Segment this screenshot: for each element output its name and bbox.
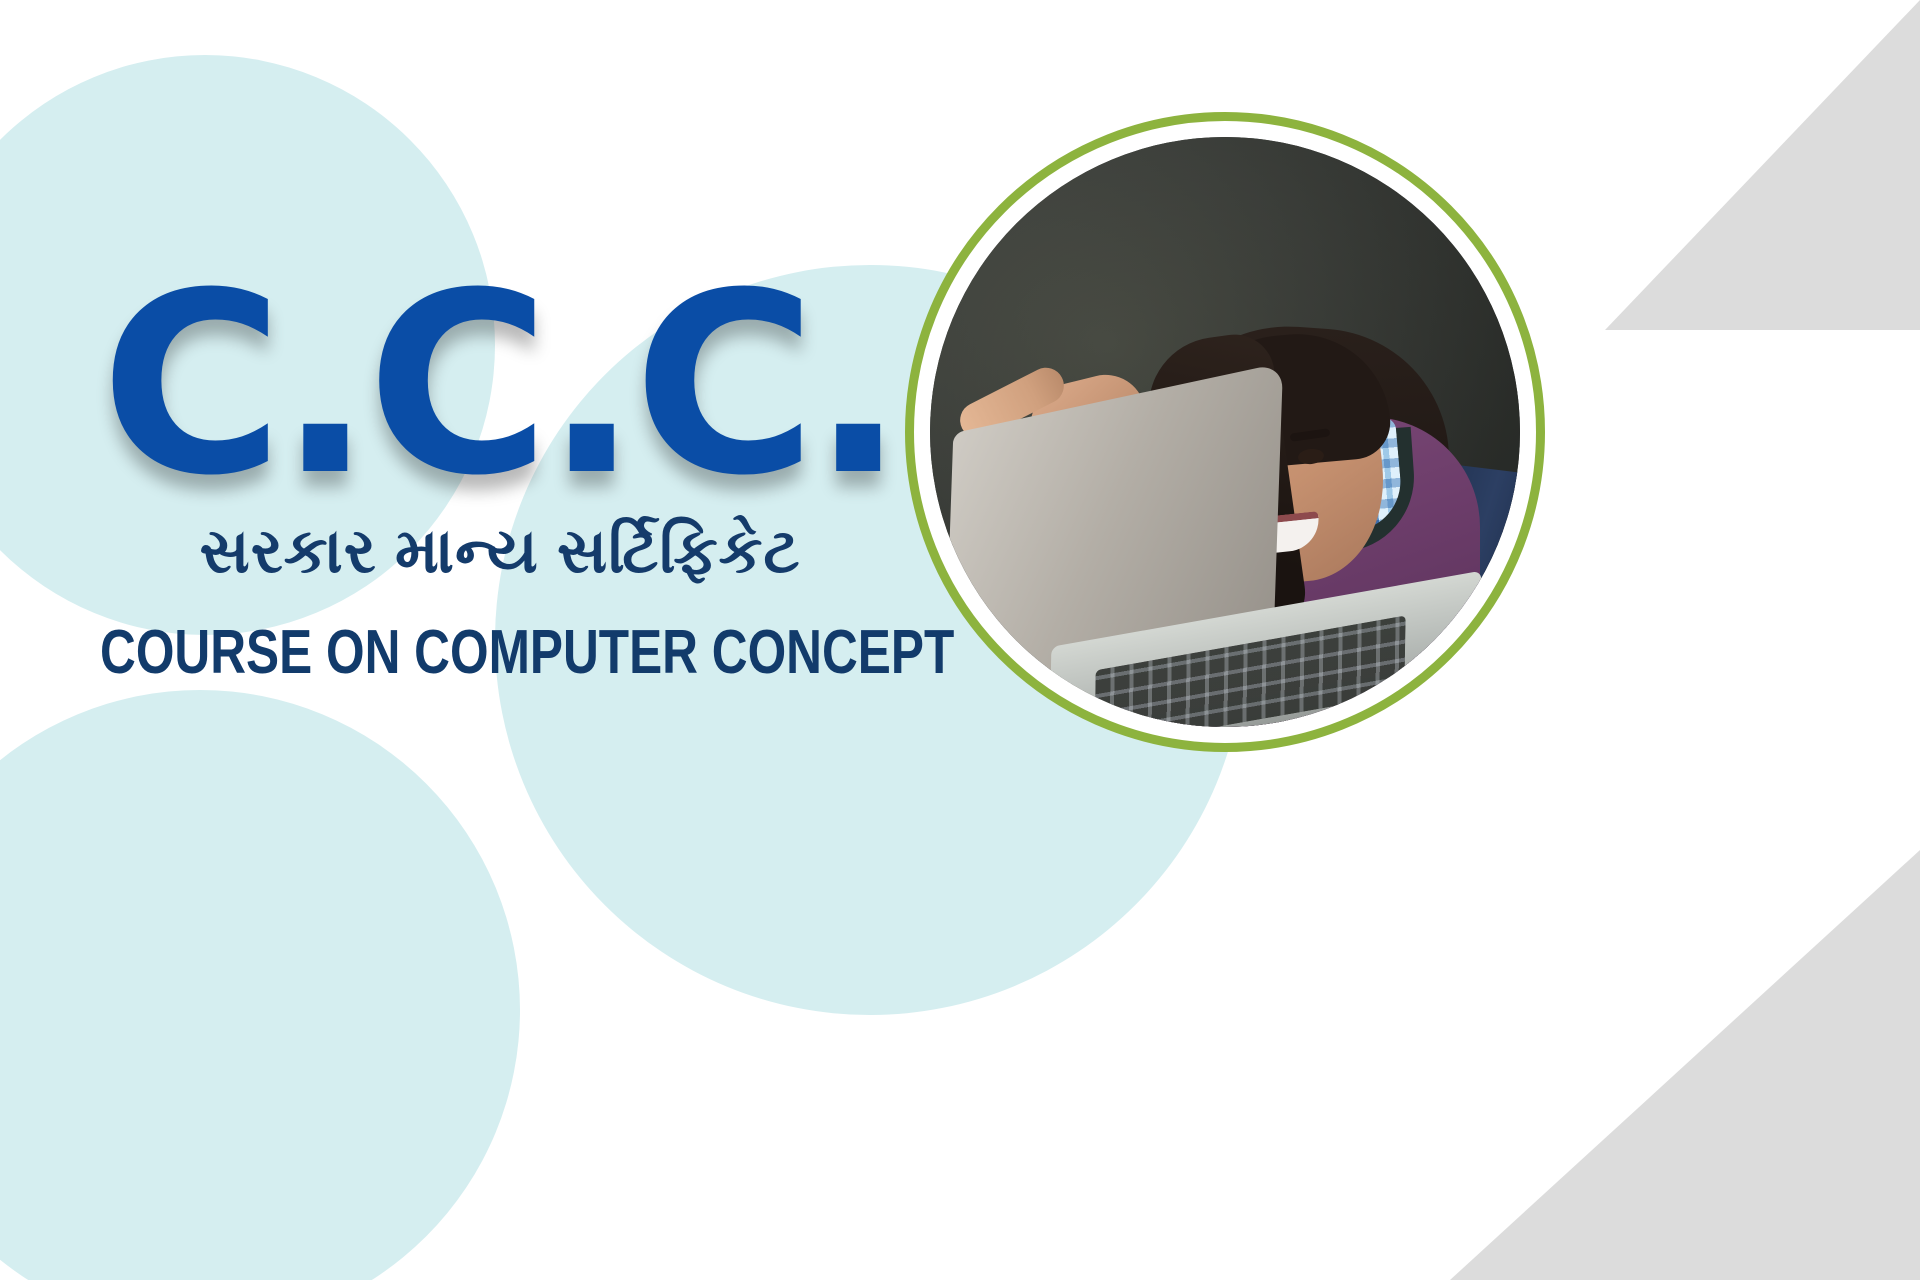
page-title: C.C.C. <box>0 270 1000 500</box>
subtitle-english: COURSE ON COMPUTER CONCEPT <box>100 620 900 685</box>
decor-wedge-top-right <box>1470 0 1920 330</box>
decor-wedge-bottom-right <box>1450 850 1920 1280</box>
headline-block: C.C.C. સરકાર માન્ય સર્ટિફિકેટ COURSE ON … <box>0 270 1000 685</box>
banner-canvas: C.C.C. સરકાર માન્ય સર્ટિફિકેટ COURSE ON … <box>0 0 1920 1280</box>
decor-circle-bottom-left <box>0 690 520 1280</box>
circular-photo-frame <box>905 112 1545 752</box>
photo-image <box>930 137 1520 727</box>
